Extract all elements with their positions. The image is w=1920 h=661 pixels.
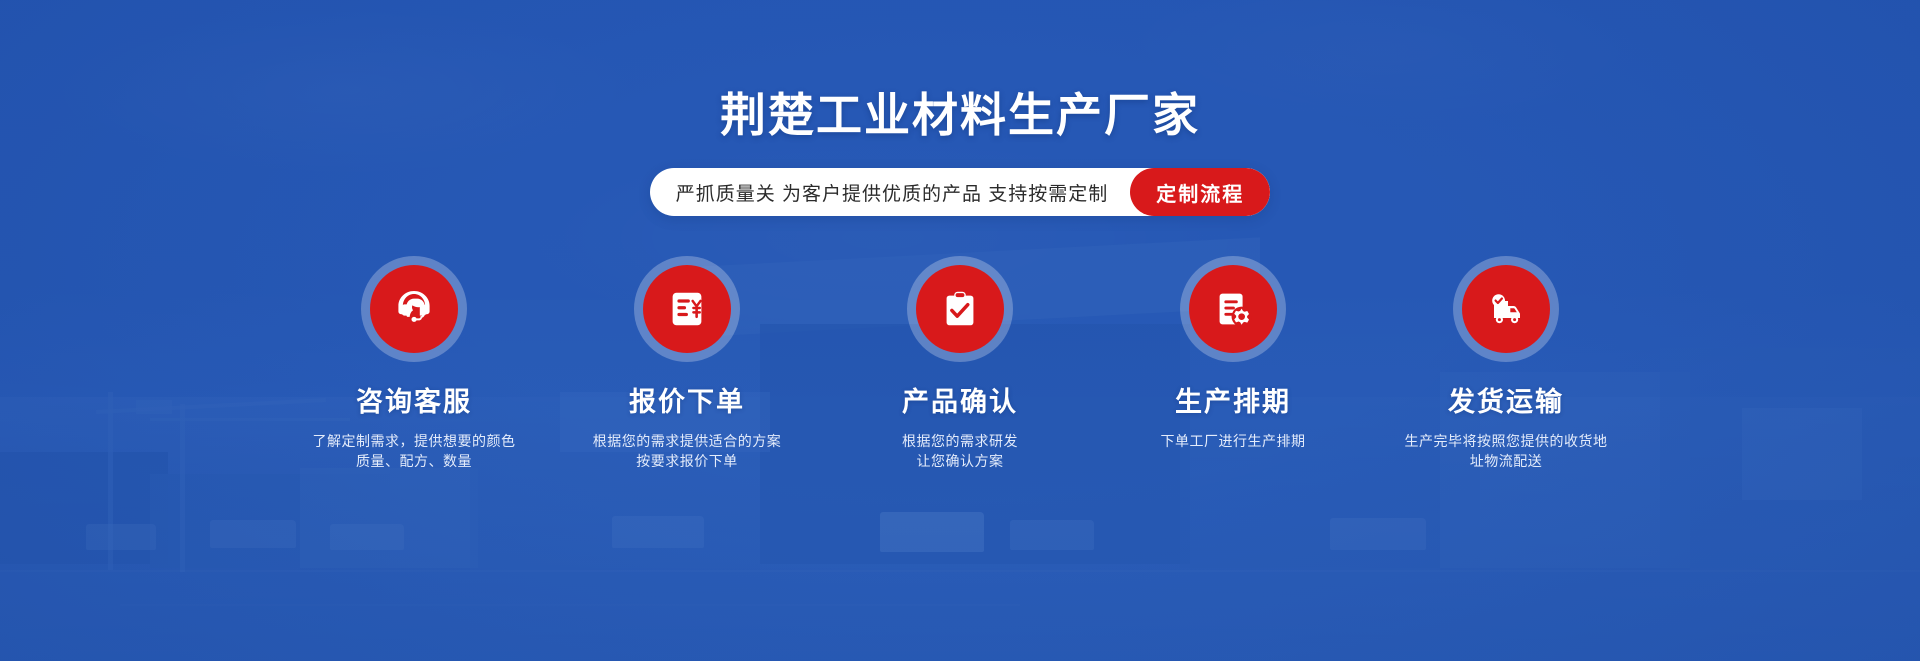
icon-ring [907, 256, 1013, 362]
step-description: 了解定制需求，提供想要的颜色 质量、配方、数量 [313, 431, 516, 471]
step-desc-line: 根据您的需求提供适合的方案 [593, 431, 782, 451]
invoice-yuan-icon [664, 286, 710, 332]
step-item-quote[interactable]: 报价下单 根据您的需求提供适合的方案 按要求报价下单 [573, 256, 801, 471]
step-desc-line: 下单工厂进行生产排期 [1161, 431, 1306, 451]
clipboard-check-icon [937, 286, 983, 332]
delivery-truck-check-icon [1482, 285, 1530, 333]
step-desc-line: 址物流配送 [1405, 451, 1608, 471]
step-item-confirm[interactable]: 产品确认 根据您的需求研发 让您确认方案 [846, 256, 1074, 471]
tagline-pill: 严抓质量关 为客户提供优质的产品 支持按需定制 定制流程 [650, 168, 1271, 216]
icon-disc [1462, 265, 1550, 353]
step-description: 根据您的需求提供适合的方案 按要求报价下单 [593, 431, 782, 471]
process-steps: 咨询客服 了解定制需求，提供想要的颜色 质量、配方、数量 [300, 256, 1620, 471]
banner-content: 荆楚工业材料生产厂家 严抓质量关 为客户提供优质的产品 支持按需定制 定制流程 [0, 0, 1920, 661]
step-description: 下单工厂进行生产排期 [1161, 431, 1306, 451]
step-desc-line: 生产完毕将按照您提供的收货地 [1405, 431, 1608, 451]
step-desc-line: 按要求报价下单 [593, 451, 782, 471]
icon-ring [1180, 256, 1286, 362]
step-title: 咨询客服 [356, 389, 472, 416]
document-gear-icon [1210, 286, 1256, 332]
step-title: 产品确认 [902, 389, 1018, 416]
tagline-text: 严抓质量关 为客户提供优质的产品 支持按需定制 [676, 179, 1131, 206]
step-description: 生产完毕将按照您提供的收货地 址物流配送 [1405, 431, 1608, 471]
step-title: 发货运输 [1448, 389, 1564, 416]
icon-disc [370, 265, 458, 353]
step-item-consult[interactable]: 咨询客服 了解定制需求，提供想要的颜色 质量、配方、数量 [300, 256, 528, 471]
step-desc-line: 了解定制需求，提供想要的颜色 [313, 431, 516, 451]
icon-disc [643, 265, 731, 353]
page-title: 荆楚工业材料生产厂家 [720, 92, 1200, 138]
promo-banner: 荆楚工业材料生产厂家 严抓质量关 为客户提供优质的产品 支持按需定制 定制流程 [0, 0, 1920, 661]
step-desc-line: 根据您的需求研发 [902, 431, 1018, 451]
step-title: 报价下单 [629, 389, 745, 416]
step-desc-line: 让您确认方案 [902, 451, 1018, 471]
custom-process-button[interactable]: 定制流程 [1130, 168, 1270, 216]
step-item-shipping[interactable]: 发货运输 生产完毕将按照您提供的收货地 址物流配送 [1392, 256, 1620, 471]
headset-support-icon [390, 285, 438, 333]
icon-ring [634, 256, 740, 362]
icon-ring [361, 256, 467, 362]
step-title: 生产排期 [1175, 389, 1291, 416]
icon-disc [1189, 265, 1277, 353]
step-item-schedule[interactable]: 生产排期 下单工厂进行生产排期 [1119, 256, 1347, 451]
step-description: 根据您的需求研发 让您确认方案 [902, 431, 1018, 471]
icon-disc [916, 265, 1004, 353]
step-desc-line: 质量、配方、数量 [313, 451, 516, 471]
icon-ring [1453, 256, 1559, 362]
